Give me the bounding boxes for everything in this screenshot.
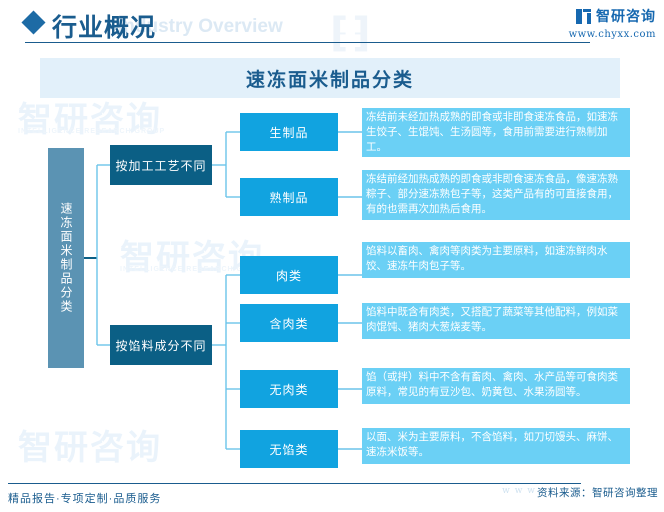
brand-name: 智研咨询 — [596, 6, 656, 26]
diamond-icon — [21, 10, 45, 34]
page-title: 行业概况 — [52, 8, 156, 44]
chart-title-banner: 速冻面米制品分类 — [40, 58, 620, 98]
footer-www-watermark: w w w — [502, 486, 536, 496]
diagram-desc-cooked: 冻结前经加热成熟的即食或非即食速冻食品，像速冻熟粽子、部分速冻熟包子等，这类产品… — [362, 170, 630, 220]
brand-url[interactable]: www.chyxx.com — [569, 29, 656, 40]
diagram-root-node[interactable]: 速冻面米制品分类 — [48, 148, 84, 368]
diagram-category-nomeat[interactable]: 无肉类 — [240, 370, 338, 408]
diagram-category-meat[interactable]: 肉类 — [240, 256, 338, 294]
diagram-category-withmeat[interactable]: 含肉类 — [240, 304, 338, 342]
chart-title: 速冻面米制品分类 — [246, 65, 414, 92]
diagram-root-label: 速冻面米制品分类 — [60, 202, 72, 314]
diagram-category-nofill[interactable]: 无馅类 — [240, 430, 338, 468]
header-divider — [25, 42, 590, 43]
footer-divider — [8, 483, 581, 484]
diagram-desc-withmeat: 馅料中既含有肉类，又搭配了蔬菜等其他配料，例如菜肉馄饨、猪肉大葱烧麦等。 — [362, 303, 630, 339]
footer-source: 资料来源：智研咨询整理 — [537, 485, 658, 500]
diagram-desc-meat: 馅料以畜肉、禽肉等肉类为主要原料，如速冻鲜肉水饺、速冻牛肉包子等。 — [362, 242, 630, 278]
diagram-desc-raw: 冻结前未经加热成熟的即食或非即食速冻食品，如速冻生饺子、生馄饨、生汤圆等，食用前… — [362, 108, 630, 157]
diagram-desc-nomeat: 馅（或拌）料中不含有畜肉、禽肉、水产品等可食肉类原料，常见的有豆沙包、奶黄包、水… — [362, 368, 630, 404]
diagram-desc-nofill: 以面、米为主要原料，不含馅料，如刀切馒头、麻饼、速冻米饭等。 — [362, 428, 630, 464]
brand-logo: 智研咨询 www.chyxx.com — [569, 6, 656, 40]
page-header: Industry Overview 行业概况 智研咨询 www.chyxx.co… — [0, 0, 664, 52]
brand-mark-icon — [576, 9, 591, 24]
diagram-category-raw[interactable]: 生制品 — [240, 113, 338, 151]
slide-page: 智研咨询 INTELLIGENCE RESEARCH GROUP 智研咨询 IN… — [0, 0, 664, 512]
diagram-branch-filling[interactable]: 按馅料成分不同 — [110, 325, 212, 365]
footer-tagline: 精品报告·专项定制·品质服务 — [8, 490, 161, 506]
diagram-category-cooked[interactable]: 熟制品 — [240, 178, 338, 216]
diagram-branch-process[interactable]: 按加工工艺不同 — [110, 145, 212, 185]
